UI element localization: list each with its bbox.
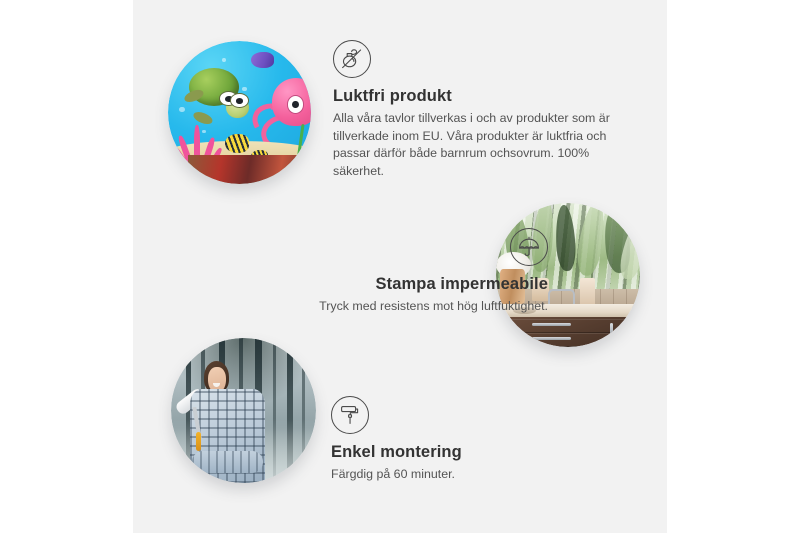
bubble-icon [222, 58, 226, 62]
ocean-photo-inner [168, 41, 311, 184]
feature-description: Alla våra tavlor tillverkas i och av pro… [333, 110, 618, 180]
woman-photo[interactable] [171, 338, 316, 483]
feature-description: Färgdig på 60 minuter. [331, 466, 621, 484]
purple-fish-icon [251, 52, 274, 68]
paint-roller-grip [196, 432, 201, 451]
folded-arms [192, 451, 264, 473]
feature-water-resistant: Stampa impermeabile Tryck med resistens … [218, 228, 548, 316]
woman-figure [183, 361, 273, 483]
soap-dispenser [580, 278, 596, 307]
feature-title: Enkel montering [331, 443, 621, 462]
drawer-handle [532, 337, 571, 340]
leaf-shape [555, 205, 577, 272]
paint-roller-icon [331, 396, 369, 434]
vanity-cabinet [499, 317, 640, 347]
feature-title: Luktfri produkt [333, 87, 618, 106]
cabinet-drawer [505, 319, 640, 332]
no-smell-icon [333, 40, 371, 78]
feature-description: Tryck med resistens mot hög luftfuktighe… [218, 298, 548, 316]
feature-odour-free: Luktfri produkt Alla våra tavlor tillver… [333, 40, 618, 180]
drawer-handle [532, 323, 571, 326]
feature-title: Stampa impermeabile [218, 275, 548, 294]
feature-easy-mounting: Enkel montering Färgdig på 60 minuter. [331, 396, 621, 484]
feature-panel: Luktfri produkt Alla våra tavlor tillver… [133, 0, 667, 533]
umbrella-icon [510, 228, 548, 266]
screenshot-stage: Luktfri produkt Alla våra tavlor tillver… [0, 0, 800, 533]
drawer-handle [610, 323, 613, 337]
turtle-eye [230, 93, 249, 108]
leaf-shape [574, 203, 608, 277]
woman-photo-inner [171, 338, 316, 483]
turtle-illustration [184, 68, 250, 119]
photo-bottom-strip [188, 155, 305, 184]
yellow-fish-icon [225, 134, 249, 153]
cabinet-drawer [505, 333, 640, 346]
ocean-photo[interactable] [168, 41, 311, 184]
